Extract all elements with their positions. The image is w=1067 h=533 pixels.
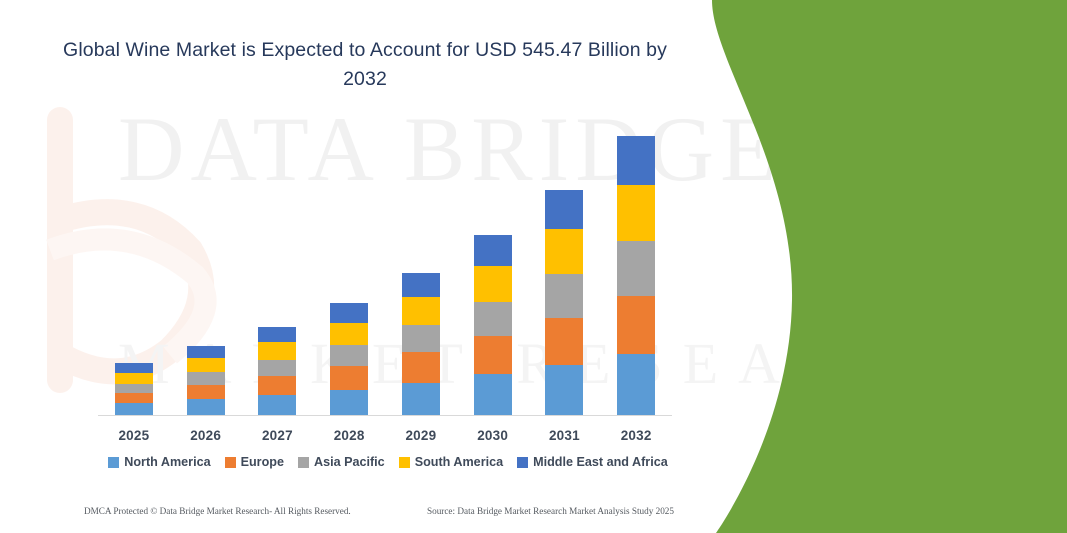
bar-segment bbox=[617, 354, 655, 415]
bar-segment bbox=[187, 346, 225, 358]
bar-segment bbox=[115, 393, 153, 403]
legend-label: Europe bbox=[241, 455, 284, 469]
x-axis-label: 2027 bbox=[242, 428, 314, 443]
page-title: Global Wine Market is Expected to Accoun… bbox=[62, 36, 668, 94]
stacked-bar bbox=[115, 363, 153, 415]
bar-segment bbox=[617, 241, 655, 296]
legend-swatch-icon bbox=[517, 457, 528, 468]
bar-column bbox=[313, 118, 385, 415]
legend-swatch-icon bbox=[108, 457, 119, 468]
logo-wordmark: DATA BRIDGE bbox=[938, 471, 1060, 490]
bar-segment bbox=[474, 235, 512, 266]
panel-title: Global Wine Market, By Regions, 2025 to … bbox=[725, 8, 1043, 58]
bar-column bbox=[170, 118, 242, 415]
bar-column bbox=[529, 118, 601, 415]
bar-segment bbox=[474, 302, 512, 337]
bar-segment bbox=[187, 358, 225, 372]
legend-swatch-icon bbox=[225, 457, 236, 468]
legend-label: Asia Pacific bbox=[314, 455, 385, 469]
legend-item[interactable]: Asia Pacific bbox=[298, 455, 385, 469]
bar-segment bbox=[402, 297, 440, 325]
x-axis-label: 2030 bbox=[457, 428, 529, 443]
legend-item[interactable]: Europe bbox=[225, 455, 284, 469]
footer: DMCA Protected © Data Bridge Market Rese… bbox=[84, 506, 674, 516]
bar-segment bbox=[545, 365, 583, 415]
logo-b-mark-icon bbox=[882, 472, 930, 510]
bar-segment bbox=[545, 318, 583, 365]
bar-column bbox=[600, 118, 672, 415]
legend-label: Middle East and Africa bbox=[533, 455, 668, 469]
x-axis-label: 2031 bbox=[529, 428, 601, 443]
bar-segment bbox=[545, 229, 583, 274]
bar-segment bbox=[115, 384, 153, 393]
stacked-bar bbox=[330, 303, 368, 415]
stacked-bar bbox=[474, 235, 512, 415]
bar-column bbox=[98, 118, 170, 415]
stacked-bar bbox=[402, 273, 440, 415]
chart-legend: North AmericaEuropeAsia PacificSouth Ame… bbox=[98, 455, 678, 469]
bar-segment bbox=[258, 342, 296, 360]
hexagon-group: 2032 2025 bbox=[824, 88, 984, 208]
x-axis-label: 2025 bbox=[98, 428, 170, 443]
stacked-bar bbox=[545, 190, 583, 415]
chart-panel: Global Wine Market is Expected to Accoun… bbox=[0, 0, 720, 533]
bar-segment bbox=[258, 327, 296, 342]
bar-segment bbox=[115, 363, 153, 372]
x-axis-labels: 20252026202720282029203020312032 bbox=[98, 424, 672, 446]
bar-segment bbox=[330, 323, 368, 345]
bar-segment bbox=[402, 325, 440, 352]
bar-column bbox=[385, 118, 457, 415]
stacked-bar bbox=[258, 327, 296, 415]
x-axis-label: 2028 bbox=[313, 428, 385, 443]
bar-segment bbox=[258, 395, 296, 415]
infographic-root: DATA BRIDGE MARKET RESEARCH Global Wine … bbox=[0, 0, 1067, 533]
bar-segment bbox=[330, 303, 368, 322]
logo-sub-wordmark: MARKET RESEARCH bbox=[938, 497, 1044, 504]
legend-swatch-icon bbox=[399, 457, 410, 468]
bar-segment bbox=[187, 385, 225, 399]
legend-swatch-icon bbox=[298, 457, 309, 468]
legend-item[interactable]: North America bbox=[108, 455, 210, 469]
chart-axis-line bbox=[98, 415, 672, 416]
footer-copyright: DMCA Protected © Data Bridge Market Rese… bbox=[84, 506, 351, 516]
bar-segment bbox=[187, 372, 225, 385]
legend-label: South America bbox=[415, 455, 503, 469]
bar-segment bbox=[545, 274, 583, 318]
bar-segment bbox=[617, 185, 655, 241]
brand-name: DATA BRIDGE MARKET RESEARCH bbox=[790, 236, 1067, 290]
bar-segment bbox=[330, 366, 368, 390]
bar-segment bbox=[115, 403, 153, 415]
footer-source: Source: Data Bridge Market Research Mark… bbox=[427, 506, 674, 516]
legend-item[interactable]: Middle East and Africa bbox=[517, 455, 668, 469]
bar-segment bbox=[330, 345, 368, 366]
bar-segment bbox=[545, 190, 583, 229]
bar-segment bbox=[330, 390, 368, 415]
bar-segment bbox=[617, 136, 655, 185]
stacked-bar-chart bbox=[98, 118, 672, 415]
bar-segment bbox=[474, 336, 512, 374]
bar-column bbox=[242, 118, 314, 415]
stacked-bar bbox=[617, 136, 655, 415]
stacked-bar bbox=[187, 346, 225, 415]
hexagon-start-year: 2025 bbox=[904, 88, 996, 180]
data-bridge-logo: DATA BRIDGE MARKET RESEARCH bbox=[876, 466, 1062, 514]
bar-segment bbox=[258, 360, 296, 376]
legend-label: North America bbox=[124, 455, 210, 469]
bar-segment bbox=[187, 399, 225, 415]
x-axis-label: 2032 bbox=[600, 428, 672, 443]
hexagon-start-year-label: 2025 bbox=[904, 122, 996, 145]
legend-item[interactable]: South America bbox=[399, 455, 503, 469]
bar-segment bbox=[474, 374, 512, 415]
bar-segment bbox=[402, 383, 440, 415]
bar-column bbox=[457, 118, 529, 415]
bar-segment bbox=[474, 266, 512, 302]
bar-segment bbox=[617, 296, 655, 354]
x-axis-label: 2029 bbox=[385, 428, 457, 443]
bar-segment bbox=[115, 373, 153, 384]
bar-segment bbox=[258, 376, 296, 395]
bar-segment bbox=[402, 352, 440, 382]
bar-segment bbox=[402, 273, 440, 298]
x-axis-label: 2026 bbox=[170, 428, 242, 443]
